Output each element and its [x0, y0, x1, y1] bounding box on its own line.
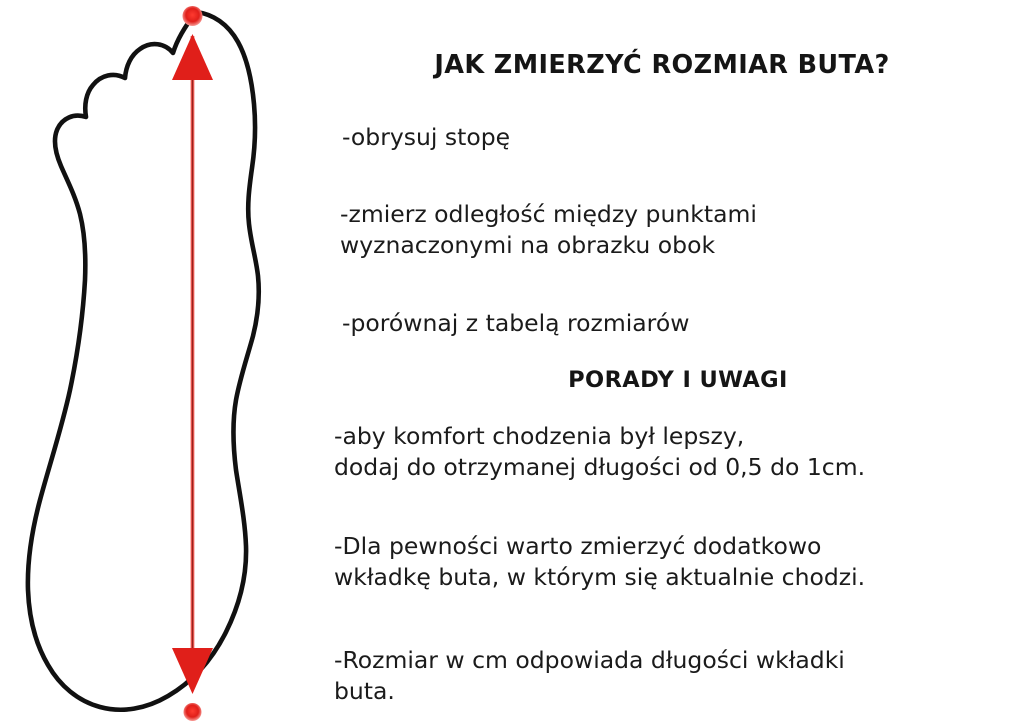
- tip-comfort: -aby komfort chodzenia był lepszy, dodaj…: [334, 421, 865, 483]
- instruction-compare-line-1: -porównaj z tabelą rozmiarów: [342, 308, 689, 339]
- page-title: JAK ZMIERZYĆ ROZMIAR BUTA?: [332, 50, 992, 80]
- instruction-measure-line-1: -zmierz odległość między punktami: [340, 199, 757, 230]
- instructions-panel: JAK ZMIERZYĆ ROZMIAR BUTA? -obrysuj stop…: [332, 0, 1024, 728]
- foot-outline-path: [28, 12, 259, 710]
- measurement-arrow-shaft: [190, 36, 195, 688]
- instruction-measure-line-2: wyznaczonymi na obrazku obok: [340, 230, 757, 261]
- tip-comfort-line-2: dodaj do otrzymanej długości od 0,5 do 1…: [334, 452, 865, 483]
- tip-size: -Rozmiar w cm odpowiada długości wkładki…: [334, 645, 845, 707]
- tip-size-line-2: buta.: [334, 676, 845, 707]
- measurement-point-bottom: [184, 703, 202, 721]
- tip-insole-line-1: -Dla pewności warto zmierzyć dodatkowo: [334, 531, 865, 562]
- instruction-compare: -porównaj z tabelą rozmiarów: [342, 308, 689, 339]
- tips-section-title: PORADY I UWAGI: [332, 367, 1024, 393]
- instruction-measure: -zmierz odległość między punktami wyznac…: [340, 199, 757, 261]
- tip-comfort-line-1: -aby komfort chodzenia był lepszy,: [334, 421, 865, 452]
- tip-size-line-1: -Rozmiar w cm odpowiada długości wkładki: [334, 645, 845, 676]
- measurement-point-top: [183, 6, 203, 26]
- infographic-page: JAK ZMIERZYĆ ROZMIAR BUTA? -obrysuj stop…: [0, 0, 1024, 728]
- instruction-outline: -obrysuj stopę: [342, 122, 510, 153]
- tip-insole-line-2: wkładkę buta, w którym się aktualnie cho…: [334, 562, 865, 593]
- instruction-outline-line-1: -obrysuj stopę: [342, 122, 510, 153]
- tip-insole: -Dla pewności warto zmierzyć dodatkowo w…: [334, 531, 865, 593]
- foot-diagram: [0, 0, 340, 728]
